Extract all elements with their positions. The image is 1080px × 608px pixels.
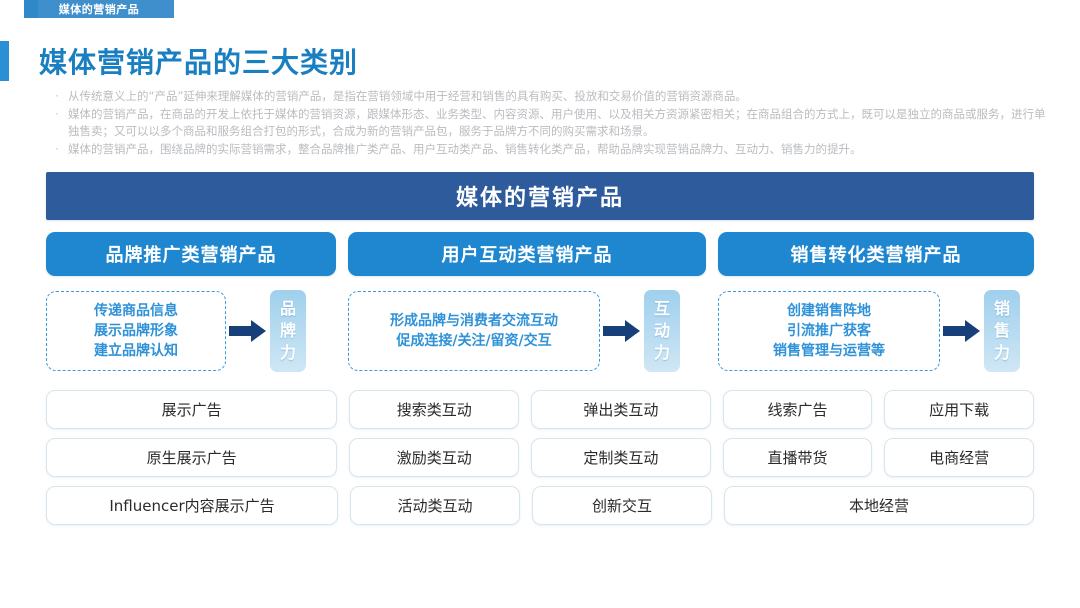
product-item[interactable]: 电商经营 bbox=[884, 438, 1034, 477]
goal-group-row: 传递商品信息 展示品牌形象 建立品牌认知 品 牌 力 形成品牌与消费者交流互动 … bbox=[46, 290, 1034, 372]
bullet-dot-icon: · bbox=[46, 106, 68, 123]
power-char: 牌 bbox=[280, 320, 296, 342]
goal-description-interaction: 形成品牌与消费者交流互动 促成连接/关注/留资/交互 bbox=[348, 291, 600, 371]
bullet-dot-icon: · bbox=[46, 141, 68, 158]
list-item: · 媒体的营销产品，在商品的开发上依托于媒体的营销资源，跟媒体形态、业务类型、内… bbox=[46, 106, 1046, 140]
arrow-right-icon bbox=[600, 319, 644, 343]
power-badge-brand: 品 牌 力 bbox=[270, 290, 306, 372]
goal-group-interaction: 形成品牌与消费者交流互动 促成连接/关注/留资/交互 互 动 力 bbox=[348, 290, 706, 372]
category-header-row: 品牌推广类营销产品 用户互动类营销产品 销售转化类营销产品 bbox=[46, 232, 1034, 276]
goal-group-brand: 传递商品信息 展示品牌形象 建立品牌认知 品 牌 力 bbox=[46, 290, 336, 372]
power-char: 销 bbox=[994, 298, 1010, 320]
power-char: 动 bbox=[654, 320, 670, 342]
product-item[interactable]: 弹出类互动 bbox=[531, 390, 711, 429]
intro-bullet-list: · 从传统意义上的“产品”延伸来理解媒体的营销产品，是指在营销领域中用于经营和销… bbox=[46, 88, 1046, 159]
product-row-1: 展示广告 搜索类互动 弹出类互动 线索广告 应用下载 bbox=[46, 390, 1034, 429]
category-sales-conversion[interactable]: 销售转化类营销产品 bbox=[718, 232, 1034, 276]
diagram-banner: 媒体的营销产品 bbox=[46, 172, 1034, 220]
goal-group-sales: 创建销售阵地 引流推广获客 销售管理与运营等 销 售 力 bbox=[718, 290, 1034, 372]
product-item[interactable]: 直播带货 bbox=[723, 438, 873, 477]
goal-line: 销售管理与运营等 bbox=[773, 341, 885, 361]
arrow-right-icon bbox=[940, 319, 984, 343]
product-item[interactable]: 本地经营 bbox=[724, 486, 1034, 525]
product-row-3: Influencer内容展示广告 活动类互动 创新交互 本地经营 bbox=[46, 486, 1034, 525]
power-char: 力 bbox=[280, 342, 296, 364]
product-item[interactable]: 活动类互动 bbox=[350, 486, 520, 525]
product-item[interactable]: 激励类互动 bbox=[349, 438, 519, 477]
arrow-right-icon bbox=[226, 319, 270, 343]
goal-description-brand: 传递商品信息 展示品牌形象 建立品牌认知 bbox=[46, 291, 226, 371]
product-item[interactable]: 搜索类互动 bbox=[349, 390, 519, 429]
goal-line: 引流推广获客 bbox=[787, 321, 871, 341]
bullet-dot-icon: · bbox=[46, 88, 68, 105]
bullet-text: 媒体的营销产品，在商品的开发上依托于媒体的营销资源，跟媒体形态、业务类型、内容资… bbox=[68, 106, 1046, 140]
title-accent-bar bbox=[0, 41, 9, 81]
power-badge-interaction: 互 动 力 bbox=[644, 290, 680, 372]
power-char: 品 bbox=[280, 298, 296, 320]
category-user-interaction[interactable]: 用户互动类营销产品 bbox=[348, 232, 706, 276]
goal-description-sales: 创建销售阵地 引流推广获客 销售管理与运营等 bbox=[718, 291, 940, 371]
product-item[interactable]: 应用下载 bbox=[884, 390, 1034, 429]
power-char: 力 bbox=[654, 342, 670, 364]
top-tag-label: 媒体的营销产品 bbox=[24, 0, 174, 18]
bullet-text: 媒体的营销产品，围绕品牌的实际营销需求，整合品牌推广类产品、用户互动类产品、销售… bbox=[68, 141, 1046, 158]
goal-line: 创建销售阵地 bbox=[787, 301, 871, 321]
bullet-text: 从传统意义上的“产品”延伸来理解媒体的营销产品，是指在营销领域中用于经营和销售的… bbox=[68, 88, 1046, 105]
product-item[interactable]: 线索广告 bbox=[723, 390, 873, 429]
product-item[interactable]: 展示广告 bbox=[46, 390, 337, 429]
product-item[interactable]: Influencer内容展示广告 bbox=[46, 486, 338, 525]
marketing-products-diagram: 媒体的营销产品 品牌推广类营销产品 用户互动类营销产品 销售转化类营销产品 传递… bbox=[46, 172, 1034, 372]
goal-line: 促成连接/关注/留资/交互 bbox=[396, 331, 551, 351]
goal-line: 展示品牌形象 bbox=[94, 321, 178, 341]
power-char: 力 bbox=[994, 342, 1010, 364]
product-item[interactable]: 原生展示广告 bbox=[46, 438, 337, 477]
product-item[interactable]: 创新交互 bbox=[532, 486, 712, 525]
page-title: 媒体营销产品的三大类别 bbox=[39, 41, 358, 81]
page-title-row: 媒体营销产品的三大类别 bbox=[0, 41, 358, 81]
product-row-2: 原生展示广告 激励类互动 定制类互动 直播带货 电商经营 bbox=[46, 438, 1034, 477]
list-item: · 媒体的营销产品，围绕品牌的实际营销需求，整合品牌推广类产品、用户互动类产品、… bbox=[46, 141, 1046, 158]
goal-line: 形成品牌与消费者交流互动 bbox=[390, 311, 558, 331]
product-item[interactable]: 定制类互动 bbox=[531, 438, 711, 477]
category-brand-promotion[interactable]: 品牌推广类营销产品 bbox=[46, 232, 336, 276]
goal-line: 传递商品信息 bbox=[94, 301, 178, 321]
power-char: 售 bbox=[994, 320, 1010, 342]
power-char: 互 bbox=[654, 298, 670, 320]
list-item: · 从传统意义上的“产品”延伸来理解媒体的营销产品，是指在营销领域中用于经营和销… bbox=[46, 88, 1046, 105]
top-tag-bar: 媒体的营销产品 bbox=[0, 0, 1080, 20]
power-badge-sales: 销 售 力 bbox=[984, 290, 1020, 372]
goal-line: 建立品牌认知 bbox=[94, 341, 178, 361]
product-item-grid: 展示广告 搜索类互动 弹出类互动 线索广告 应用下载 原生展示广告 激励类互动 … bbox=[46, 390, 1034, 534]
